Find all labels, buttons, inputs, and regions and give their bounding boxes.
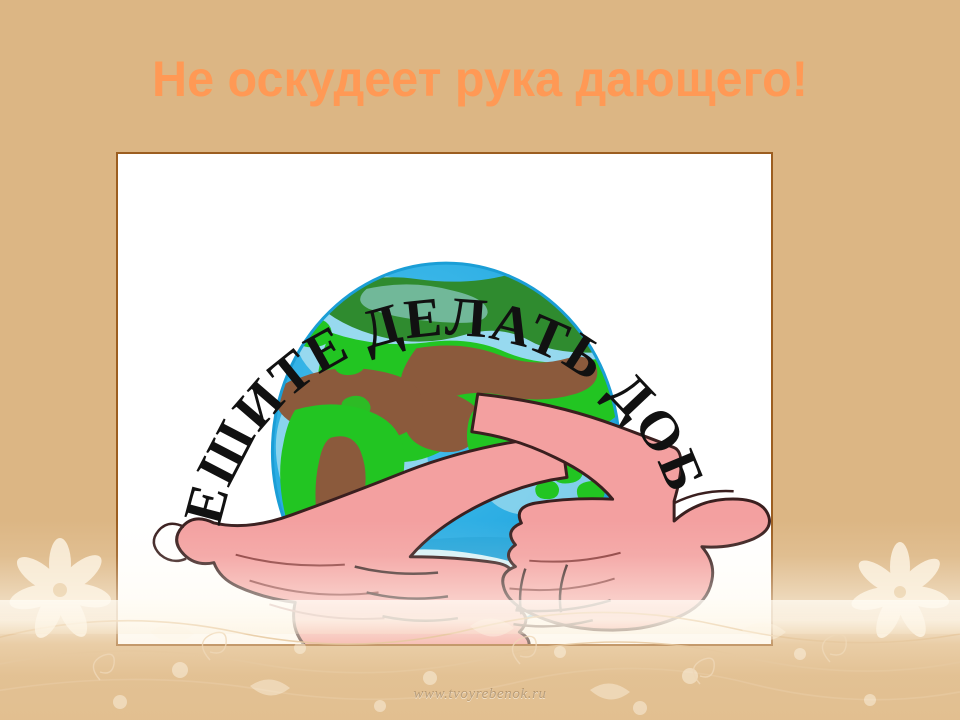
picture-card[interactable]: СПЕШИТЕ ДЕЛАТЬ ДОБРО! [116,152,773,646]
artwork-speshite-delat-dobro: СПЕШИТЕ ДЕЛАТЬ ДОБРО! [118,154,771,644]
site-watermark: www.tvoyrebenok.ru [0,686,960,703]
page-title: Не оскудеет рука дающего! [14,50,945,108]
presentation-slide: Не оскудеет рука дающего! [0,0,960,720]
picture-card-inner: СПЕШИТЕ ДЕЛАТЬ ДОБРО! [118,154,771,644]
